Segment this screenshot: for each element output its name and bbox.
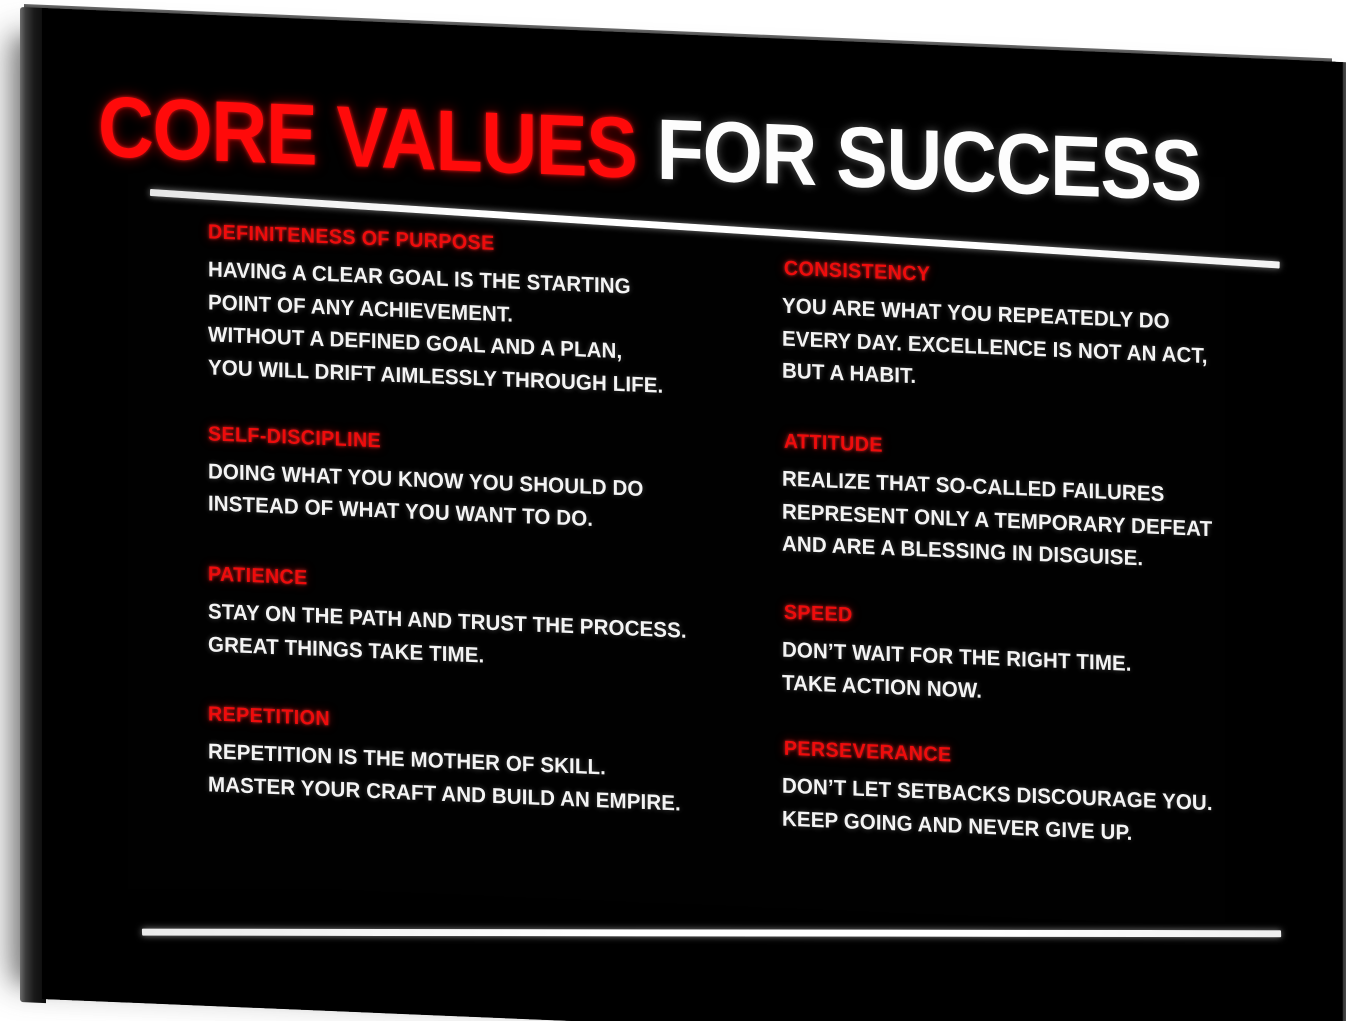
value-section: PERSEVERANCEDON’T LET SETBACKS DISCOURAG… xyxy=(782,737,1252,854)
values-column-left: DEFINITENESS OF PURPOSEHAVING A CLEAR GO… xyxy=(208,220,728,848)
value-section: ATTITUDEREALIZE THAT SO-CALLED FAILURESR… xyxy=(782,430,1252,580)
value-section: CONSISTENCYYOU ARE WHAT YOU REPEATEDLY D… xyxy=(782,257,1252,407)
value-section: REPETITIONREPETITION IS THE MOTHER OF SK… xyxy=(208,703,728,823)
values-column-right: CONSISTENCYYOU ARE WHAT YOU REPEATEDLY D… xyxy=(782,257,1252,881)
value-section: PATIENCESTAY ON THE PATH AND TRUST THE P… xyxy=(208,562,728,682)
value-section: SPEEDDON’T WAIT FOR THE RIGHT TIME.TAKE … xyxy=(782,601,1252,718)
canvas-print-stage: CORE VALUES FOR SUCCESS DEFINITENESS OF … xyxy=(0,0,1346,1021)
value-section: DEFINITENESS OF PURPOSEHAVING A CLEAR GO… xyxy=(208,220,728,405)
value-section: SELF-DISCIPLINEDOING WHAT YOU KNOW YOU S… xyxy=(208,422,728,542)
values-columns: DEFINITENESS OF PURPOSEHAVING A CLEAR GO… xyxy=(42,9,1343,1021)
canvas-printed-face: CORE VALUES FOR SUCCESS DEFINITENESS OF … xyxy=(42,8,1343,1021)
